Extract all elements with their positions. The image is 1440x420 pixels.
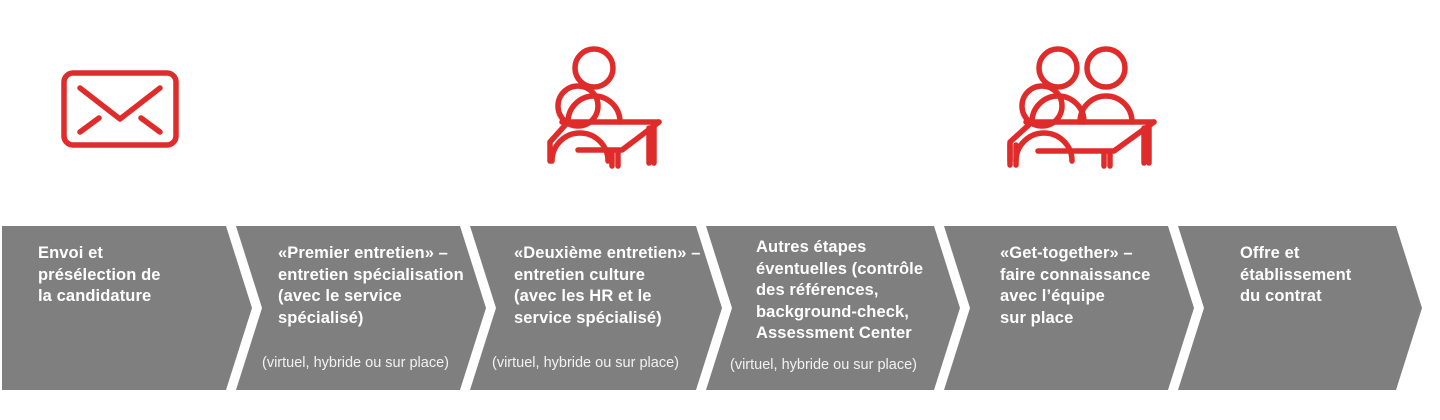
icon-row xyxy=(0,0,1440,212)
process-step-5[interactable]: «Get-together» – faire connaissance avec… xyxy=(944,226,1194,390)
process-step-6[interactable]: Offre et établissement du contrat xyxy=(1178,226,1422,390)
process-arrow-band: Envoi et présélection de la candidature … xyxy=(0,226,1440,390)
process-step-2-caption: (virtuel, hybride ou sur place) xyxy=(262,354,449,372)
process-step-4[interactable]: Autres étapes éventuelles (contrôle des … xyxy=(706,226,960,390)
process-step-3-caption: (virtuel, hybride ou sur place) xyxy=(492,354,679,372)
process-step-4-caption: (virtuel, hybride ou sur place) xyxy=(730,356,917,374)
process-step-5-title: «Get-together» – faire connaissance avec… xyxy=(1000,243,1184,329)
process-step-2-title: «Premier entretien» – entretien spéciali… xyxy=(278,243,474,329)
process-step-4-title: Autres étapes éventuelles (contrôle des … xyxy=(756,237,950,345)
envelope-icon xyxy=(58,53,182,159)
two-people-at-table-icon xyxy=(530,43,670,169)
process-step-1[interactable]: Envoi et présélection de la candidature xyxy=(2,226,252,390)
icon-cell-2 xyxy=(480,0,720,212)
process-step-3[interactable]: «Deuxième entretien» – entretien culture… xyxy=(470,226,722,390)
process-step-1-title: Envoi et présélection de la candidature xyxy=(38,243,218,308)
recruitment-process-infographic: Envoi et présélection de la candidature … xyxy=(0,0,1440,420)
process-step-6-title: Offre et établissement du contrat xyxy=(1240,243,1412,308)
process-step-3-title: «Deuxième entretien» – entretien culture… xyxy=(514,243,710,329)
icon-cell-3 xyxy=(960,0,1200,212)
icon-cell-1 xyxy=(0,0,240,212)
three-people-at-table-icon xyxy=(994,43,1166,169)
process-step-2[interactable]: «Premier entretien» – entretien spéciali… xyxy=(236,226,486,390)
